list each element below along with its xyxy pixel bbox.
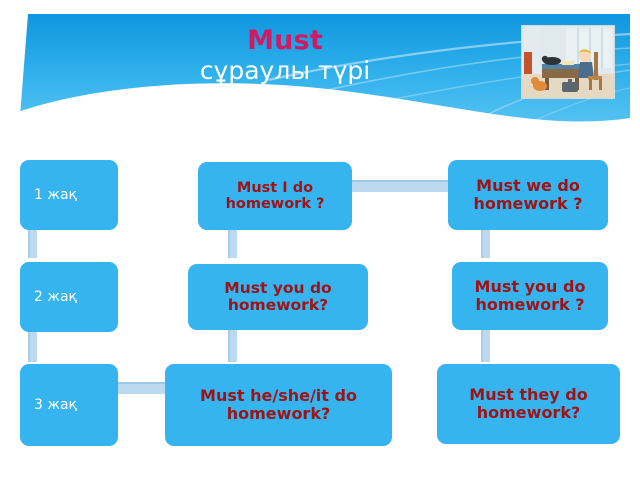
node-person-label-2: 2 жақ: [34, 289, 77, 305]
node-question-singular-row-3[interactable]: Must he/she/it do homework?: [165, 364, 392, 446]
node-person-row-3[interactable]: 3 жақ: [20, 364, 118, 446]
connector-right-1-2: [481, 228, 490, 258]
node-question-plural-row-2[interactable]: Must you do homework ?: [452, 262, 608, 330]
connector-row3-person-to-singular: [112, 382, 170, 394]
connector-middle-2-3: [228, 330, 237, 362]
node-person-label-1: 1 жақ: [34, 187, 77, 203]
node-person-label-3: 3 жақ: [34, 397, 77, 413]
connector-middle-1-2: [228, 228, 237, 258]
connector-left-1-2: [28, 228, 37, 258]
connector-right-2-3: [481, 330, 490, 362]
node-question-singular-row-2[interactable]: Must you do homework?: [188, 264, 368, 330]
connector-left-2-3: [28, 330, 37, 362]
node-question-singular-row-1[interactable]: Must I do homework ?: [198, 162, 352, 230]
slide-canvas: Must сұраулы түрі: [0, 0, 640, 480]
node-question-plural-row-3[interactable]: Must they do homework?: [437, 364, 620, 444]
node-question-label-3-plural: Must they do homework?: [442, 386, 615, 422]
node-question-plural-row-1[interactable]: Must we do homework ?: [448, 160, 608, 230]
node-person-row-2[interactable]: 2 жақ: [20, 262, 118, 332]
node-question-label-1-singular: Must I do homework ?: [203, 180, 347, 212]
node-person-row-1[interactable]: 1 жақ: [20, 160, 118, 230]
node-question-label-3-singular: Must he/she/it do homework?: [170, 387, 387, 423]
node-question-label-2-singular: Must you do homework?: [193, 280, 363, 315]
node-question-label-1-plural: Must we do homework ?: [453, 177, 603, 213]
node-question-label-2-plural: Must you do homework ?: [457, 278, 603, 314]
illustration-artwork: [522, 26, 614, 98]
connector-row1-singular-to-plural: [348, 180, 454, 192]
boy-at-desk-illustration: [521, 25, 615, 99]
